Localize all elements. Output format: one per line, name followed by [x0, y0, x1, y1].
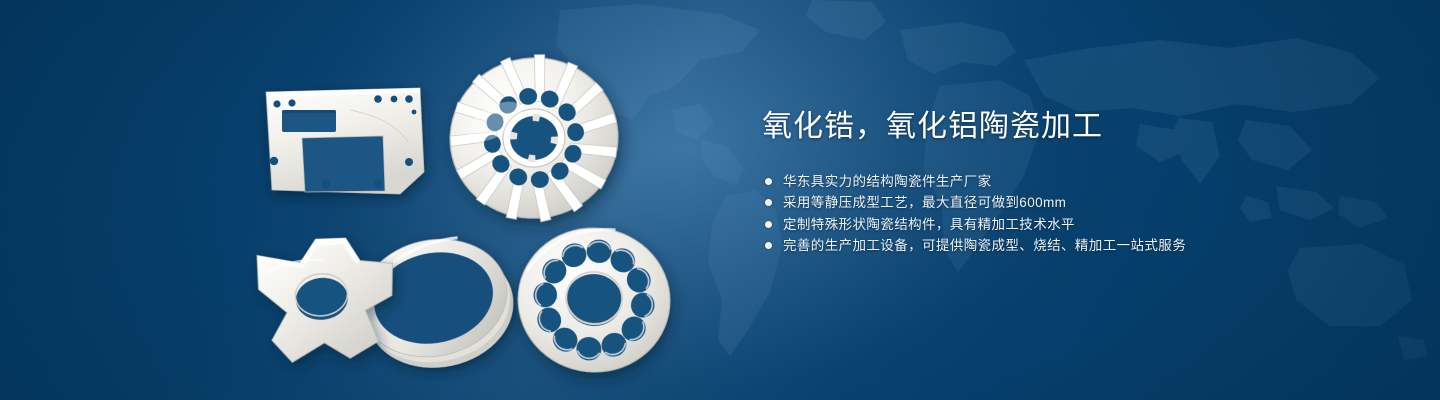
banner-copy: 氧化锆，氧化铝陶瓷加工 华东具实力的结构陶瓷件生产厂家 采用等静压成型工艺，最大… [762, 108, 1382, 253]
list-item: 华东具实力的结构陶瓷件生产厂家 [765, 175, 1382, 189]
feature-text: 采用等静压成型工艺，最大直径可做到600mm [783, 196, 1066, 210]
bullet-dot-icon [765, 178, 772, 185]
bullet-dot-icon [765, 242, 772, 249]
bullet-dot-icon [765, 199, 772, 206]
list-item: 完善的生产加工设备，可提供陶瓷成型、烧结、精加工一站式服务 [765, 239, 1382, 253]
bullet-dot-icon [765, 221, 772, 228]
list-item: 定制特殊形状陶瓷结构件，具有精加工技术水平 [765, 218, 1382, 232]
feature-text: 定制特殊形状陶瓷结构件，具有精加工技术水平 [783, 218, 1075, 232]
list-item: 采用等静压成型工艺，最大直径可做到600mm [765, 196, 1382, 210]
ceramic-machined-plate [266, 88, 424, 194]
feature-text: 完善的生产加工设备，可提供陶瓷成型、烧结、精加工一站式服务 [783, 239, 1186, 253]
product-photo-cluster [0, 0, 720, 400]
feature-list: 华东具实力的结构陶瓷件生产厂家 采用等静压成型工艺，最大直径可做到600mm 定… [765, 175, 1382, 253]
page-title: 氧化锆，氧化铝陶瓷加工 [762, 108, 1382, 146]
feature-text: 华东具实力的结构陶瓷件生产厂家 [783, 175, 992, 189]
ceramic-perforated-disc [511, 220, 677, 379]
promo-banner: 氧化锆，氧化铝陶瓷加工 华东具实力的结构陶瓷件生产厂家 采用等静压成型工艺，最大… [0, 0, 1440, 400]
ceramic-impeller-wheel [438, 43, 629, 234]
